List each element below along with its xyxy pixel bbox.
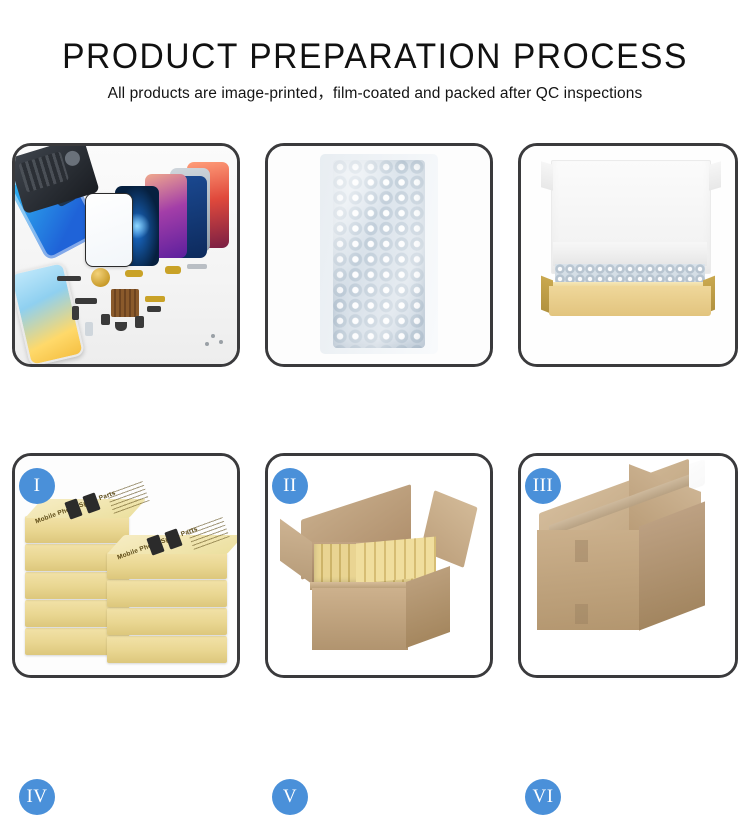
carton-side-face (406, 566, 450, 648)
step-badge-3: III (525, 468, 561, 504)
carton-front-face (312, 588, 408, 650)
screw-part (205, 342, 209, 346)
bracket-part (72, 306, 79, 320)
step-panel-3 (518, 143, 738, 367)
carton-seam (575, 540, 588, 562)
volume-button-part (165, 266, 181, 274)
tweezers-icon (187, 264, 207, 269)
bubble-wrapped-item-image (268, 146, 490, 364)
plastic-sheen-overlay (333, 160, 425, 348)
connector-part (75, 298, 97, 304)
camera-lens-part (115, 322, 127, 331)
button-flex-part (147, 306, 161, 312)
flex-cable-part (125, 270, 143, 277)
shield-part (101, 314, 110, 325)
page-title: PRODUCT PREPARATION PROCESS (15, 36, 735, 78)
step-badge-5: V (272, 779, 308, 815)
foam-sheet-icon (553, 242, 707, 266)
steps-grid: Mobile Phone Spare Parts Mobile Phone Sp… (12, 143, 738, 688)
carton-front-face (537, 530, 641, 630)
charging-port-part (145, 296, 165, 302)
open-kraft-box-image (521, 146, 735, 364)
step-badge-1: I (19, 468, 55, 504)
screen-glass-icon (85, 193, 133, 267)
retail-box (107, 636, 227, 663)
step-panel-1 (12, 143, 240, 367)
screw-part (219, 340, 223, 344)
screw-part (211, 334, 215, 338)
product-preparation-infographic: PRODUCT PREPARATION PROCESS All products… (0, 0, 750, 750)
screw-tray-part (111, 289, 139, 317)
box-stack: Mobile Phone Spare Parts Mobile Phone Sp… (23, 478, 229, 663)
kraft-box-front-icon (549, 286, 711, 316)
speaker-coil-icon (91, 268, 110, 287)
vibrator-part (135, 316, 144, 328)
sim-tray-part (85, 322, 93, 336)
carton-seam (575, 604, 588, 624)
antenna-strip-part (57, 276, 81, 281)
step-badge-4: IV (19, 779, 55, 815)
step-badge-2: II (272, 468, 308, 504)
step-badge-6: VI (525, 779, 561, 815)
page-subtitle: All products are image-printed，film-coat… (0, 83, 750, 105)
products-and-parts-image (15, 146, 237, 364)
step-panel-2 (265, 143, 493, 367)
retail-box (107, 580, 227, 607)
retail-box (107, 608, 227, 635)
